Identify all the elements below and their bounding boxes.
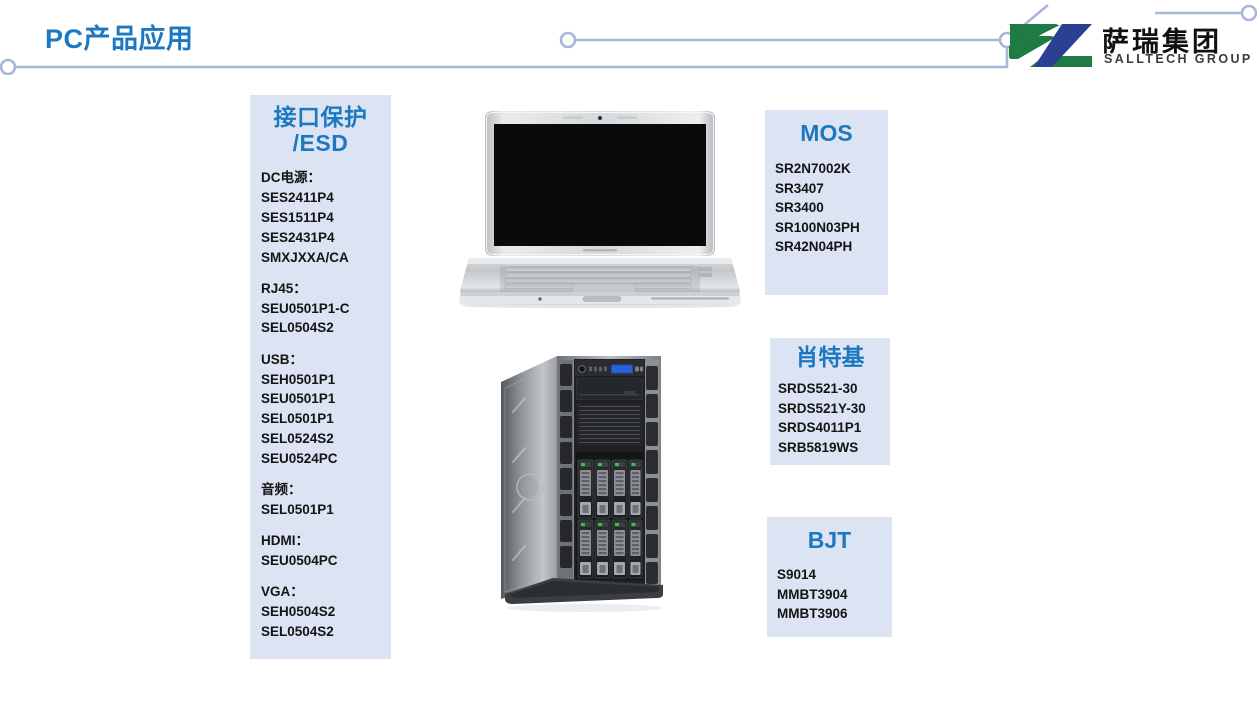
part-number: SES2431P4 — [261, 228, 391, 248]
box-title-bjt: BJT — [767, 517, 892, 553]
part-number: SRDS521-30 — [778, 379, 890, 399]
box-body-schottky: SRDS521-30 SRDS521Y-30 SRDS4011P1 SRB581… — [770, 370, 890, 457]
group-label-audio: 音频： — [261, 480, 391, 500]
box-body-esd: DC电源： SES2411P4 SES1511P4 SES2431P4 SMXJ… — [250, 156, 391, 641]
part-number: SEH0501P1 — [261, 370, 391, 390]
box-title-mos: MOS — [765, 110, 888, 146]
part-number: SRB5819WS — [778, 438, 890, 458]
spacer — [261, 338, 391, 349]
part-number: SR3400 — [775, 198, 888, 218]
box-title-esd-line2: /ESD — [250, 130, 391, 156]
part-number: SRDS521Y-30 — [778, 399, 890, 419]
part-number: S9014 — [777, 565, 892, 585]
group-label-dc: DC电源： — [261, 168, 391, 188]
part-number: SR42N04PH — [775, 237, 888, 257]
company-logo: 萨瑞集团 SALLTECH GROUP — [1008, 22, 1244, 69]
slide-header: PC产品应用 萨瑞集团 SALLTECH GROUP — [0, 0, 1257, 90]
laptop-image — [455, 108, 745, 308]
part-number: SEL0524S2 — [261, 429, 391, 449]
box-title-esd: 接口保护 /ESD — [250, 95, 391, 156]
part-number: SEL0501P1 — [261, 409, 391, 429]
group-label-vga: VGA： — [261, 582, 391, 602]
group-label-usb: USB： — [261, 350, 391, 370]
part-number: SEU0501P1 — [261, 389, 391, 409]
part-number: SEU0501P1-C — [261, 299, 391, 319]
box-interface-protection-esd: 接口保护 /ESD DC电源： SES2411P4 SES1511P4 SES2… — [250, 95, 391, 659]
part-number: SEU0504PC — [261, 551, 391, 571]
server-tower-image — [495, 342, 695, 627]
group-label-rj45: RJ45： — [261, 279, 391, 299]
spacer — [261, 267, 391, 278]
box-body-mos: SR2N7002K SR3407 SR3400 SR100N03PH SR42N… — [765, 146, 888, 257]
part-number: SEU0524PC — [261, 449, 391, 469]
part-number: MMBT3906 — [777, 604, 892, 624]
part-number: SR2N7002K — [775, 159, 888, 179]
box-mos: MOS SR2N7002K SR3407 SR3400 SR100N03PH S… — [765, 110, 888, 295]
page-title: PC产品应用 — [45, 17, 194, 56]
salltech-logo-mark — [1008, 23, 1094, 68]
group-label-hdmi: HDMI： — [261, 531, 391, 551]
part-number: SEL0504S2 — [261, 318, 391, 338]
spacer — [261, 520, 391, 531]
logo-name-en: SALLTECH GROUP — [1104, 52, 1253, 66]
part-number: SES2411P4 — [261, 188, 391, 208]
part-number: SRDS4011P1 — [778, 418, 890, 438]
box-bjt: BJT S9014 MMBT3904 MMBT3906 — [767, 517, 892, 637]
part-number: SR100N03PH — [775, 218, 888, 238]
slide-canvas: PC产品应用 萨瑞集团 SALLTECH GROUP 接口保护 /ESD DC电… — [0, 0, 1257, 705]
part-number: SEL0501P1 — [261, 500, 391, 520]
part-number: SR3407 — [775, 179, 888, 199]
spacer — [261, 469, 391, 480]
box-body-bjt: S9014 MMBT3904 MMBT3906 — [767, 553, 892, 624]
spacer — [261, 571, 391, 582]
box-schottky: 肖特基 SRDS521-30 SRDS521Y-30 SRDS4011P1 SR… — [770, 338, 890, 465]
box-title-esd-line1: 接口保护 — [250, 104, 391, 130]
part-number: SMXJXXA/CA — [261, 248, 391, 268]
part-number: SES1511P4 — [261, 208, 391, 228]
part-number: MMBT3904 — [777, 585, 892, 605]
part-number: SEL0504S2 — [261, 622, 391, 642]
part-number: SEH0504S2 — [261, 602, 391, 622]
box-title-schottky: 肖特基 — [770, 338, 890, 370]
